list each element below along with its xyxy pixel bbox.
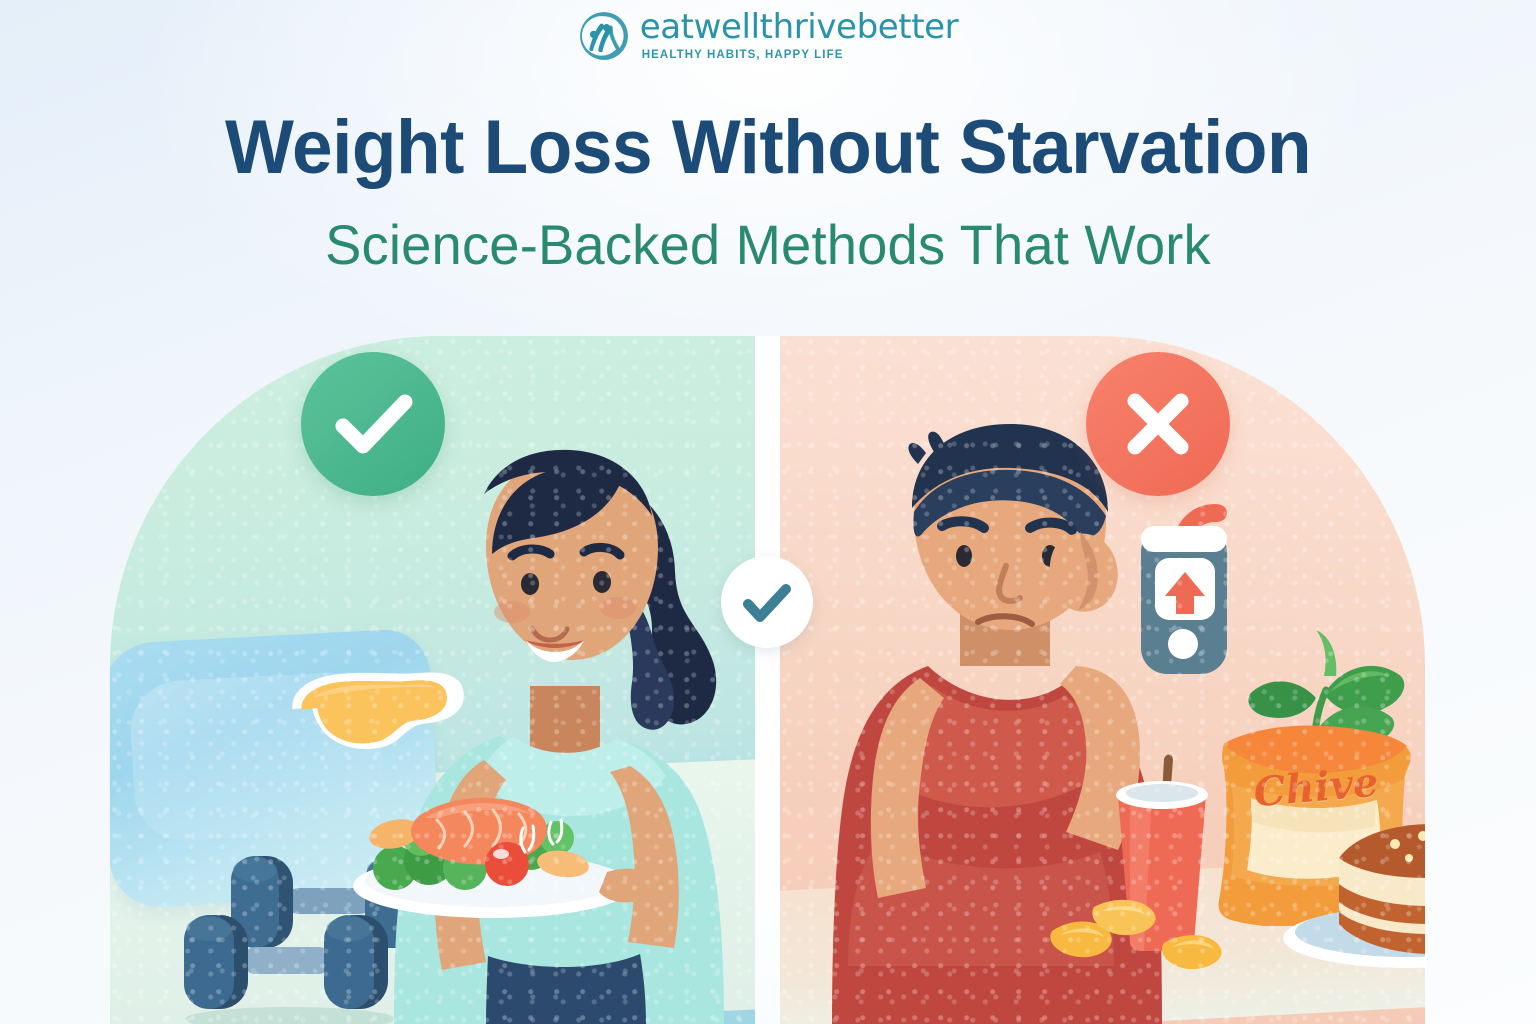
check-icon <box>739 574 795 630</box>
healthy-plate <box>325 776 655 926</box>
x-circle-badge <box>1086 352 1230 496</box>
brand-name: eatwellthrivebetter <box>640 10 959 44</box>
center-check-badge <box>721 556 813 648</box>
smiling-woman-figure <box>380 436 750 1024</box>
comparison-illustration: Chive <box>0 336 1536 1024</box>
swirl-people-logo-icon <box>578 10 630 62</box>
cake-slice-on-plate <box>1275 806 1425 976</box>
brand-tagline: HEALTHY HABITS, HAPPY LIFE <box>642 50 959 62</box>
poster-canvas: eatwellthrivebetter HEALTHY HABITS, HAPP… <box>0 0 1536 1024</box>
page-title: Weight Loss Without Starvation <box>31 104 1506 191</box>
scattered-chips <box>1030 891 1260 981</box>
panel-divider <box>755 336 780 1024</box>
check-icon <box>327 378 419 470</box>
check-circle-badge <box>301 352 445 496</box>
page-subtitle: Science-Backed Methods That Work <box>23 212 1513 277</box>
brand-logo: eatwellthrivebetter HEALTHY HABITS, HAPP… <box>0 10 1536 62</box>
close-icon <box>1117 383 1199 465</box>
